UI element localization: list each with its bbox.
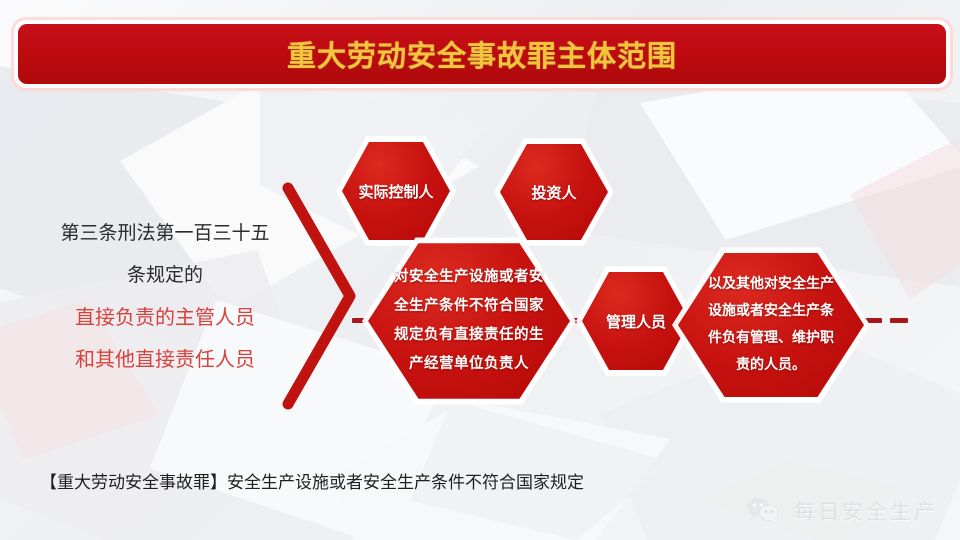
- title-banner-fill: 重大劳动安全事故罪主体范围: [18, 24, 946, 84]
- connector-dash: [890, 318, 908, 323]
- left-text-line: 条规定的: [40, 254, 290, 296]
- hex-node-manager[interactable]: 管理人员: [582, 270, 690, 372]
- footer-caption: 【重大劳动安全事故罪】安全生产设施或者安全生产条件不符合国家规定: [40, 468, 584, 493]
- hex-node-investor[interactable]: 投资人: [500, 142, 608, 242]
- hex-label: 以及其他对安全生产设施或者安全生产条件负有管理、维护职责的人员。: [678, 250, 864, 400]
- title-banner: 重大劳动安全事故罪主体范围: [14, 20, 950, 88]
- left-text-line: 第三条刑法第一百三十五: [40, 212, 290, 254]
- left-text-line-highlight: 和其他直接责任人员: [40, 338, 290, 380]
- hex-label: 管理人员: [582, 270, 690, 372]
- watermark-text: 每日安全生产: [794, 496, 938, 526]
- page-title: 重大劳动安全事故罪主体范围: [287, 33, 677, 75]
- hex-label: 对安全生产设施或者安全生产条件不符合国家规定负有直接责任的生产经营单位负责人: [368, 240, 570, 402]
- watermark: 每日安全生产: [744, 496, 938, 526]
- hex-label: 实际控制人: [342, 140, 450, 242]
- hex-label: 投资人: [500, 142, 608, 242]
- slide-canvas: 重大劳动安全事故罪主体范围 第三条刑法第一百三十五 条规定的 直接负责的主管人员…: [0, 0, 960, 540]
- left-text-line-highlight: 直接负责的主管人员: [40, 296, 290, 338]
- hex-node-other-duty-person[interactable]: 以及其他对安全生产设施或者安全生产条件负有管理、维护职责的人员。: [678, 250, 864, 400]
- background-polygon-accent: [850, 140, 960, 300]
- hex-node-actual-controller[interactable]: 实际控制人: [342, 140, 450, 242]
- hex-node-responsible-person[interactable]: 对安全生产设施或者安全生产条件不符合国家规定负有直接责任的生产经营单位负责人: [368, 240, 570, 402]
- wechat-icon: [744, 496, 784, 526]
- left-text-block: 第三条刑法第一百三十五 条规定的 直接负责的主管人员 和其他直接责任人员: [40, 212, 290, 380]
